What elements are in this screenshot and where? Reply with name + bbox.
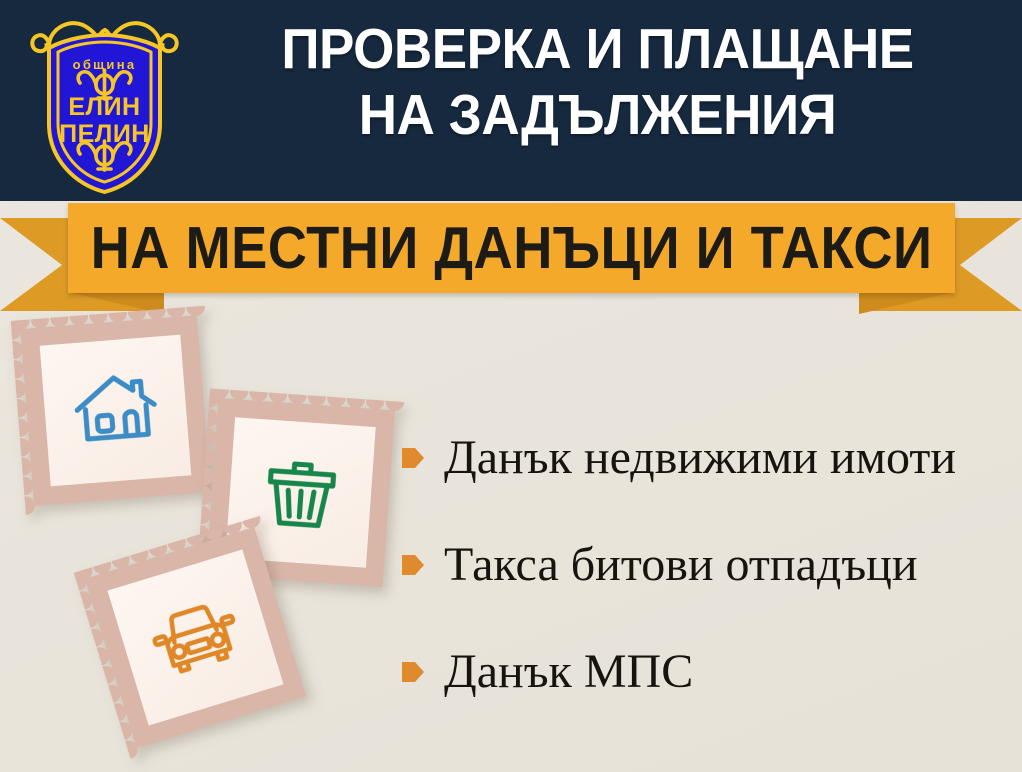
list-item[interactable]: Такса битови отпадъци [402, 532, 1014, 597]
list-item-label: Данък МПС [444, 646, 693, 698]
ribbon-main-band: НА МЕСТНИ ДАНЪЦИ И ТАКСИ [68, 203, 955, 293]
ribbon-banner: НА МЕСТНИ ДАНЪЦИ И ТАКСИ [0, 196, 1022, 314]
arrow-right-bullet-icon [402, 660, 424, 684]
services-list: Данък недвижими имоти Такса битови отпад… [402, 425, 1014, 746]
stamp-card-property-tax [11, 306, 221, 516]
ribbon-text: НА МЕСТНИ ДАНЪЦИ И ТАКСИ [91, 217, 933, 279]
list-item-label: Данък недвижими имоти [444, 432, 956, 484]
house-icon [66, 361, 165, 460]
list-item[interactable]: Данък МПС [402, 639, 1014, 704]
crest-label-big: ЕЛИН ПЕЛИН [22, 94, 187, 148]
arrow-right-bullet-icon [402, 446, 424, 470]
trash-bin-icon [251, 443, 349, 541]
list-item[interactable]: Данък недвижими имоти [402, 425, 1014, 490]
crest-label-small: община [22, 57, 187, 72]
arrow-right-bullet-icon [402, 553, 424, 577]
stamp-paper [40, 335, 192, 487]
page-title: ПРОВЕРКА И ПЛАЩАНЕ НА ЗАДЪЛЖЕНИЯ [219, 16, 977, 148]
poster-root: ПРОВЕРКА И ПЛАЩАНЕ НА ЗАДЪЛЖЕНИЯ [0, 0, 1022, 772]
car-icon [138, 580, 253, 695]
municipality-crest: община ЕЛИН ПЕЛИН [22, 6, 187, 196]
list-item-label: Такса битови отпадъци [444, 539, 918, 591]
